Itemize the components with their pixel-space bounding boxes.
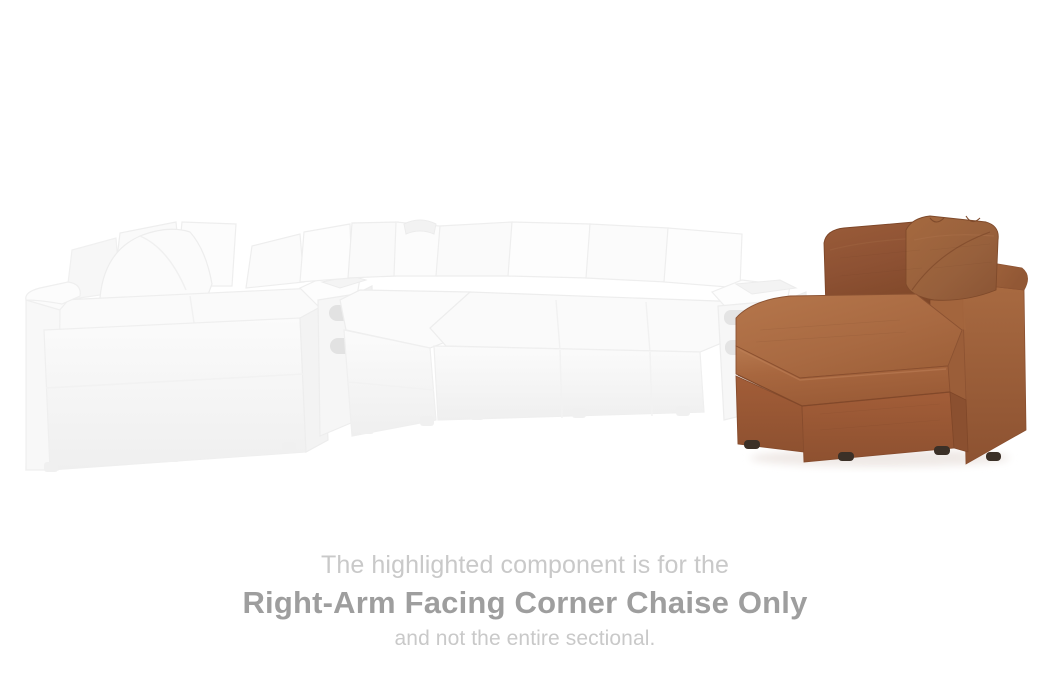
- chaise-side-pillow: [906, 216, 998, 300]
- chaise-foot: [838, 452, 854, 461]
- chaise-foot: [986, 452, 1001, 461]
- caption-line-1: The highlighted component is for the: [0, 548, 1050, 582]
- chaise-foot: [744, 440, 760, 449]
- sectional-svg: [0, 0, 1050, 520]
- caption-block: The highlighted component is for the Rig…: [0, 548, 1050, 654]
- sectional-illustration: [0, 0, 1050, 520]
- caption-line-3: and not the entire sectional.: [0, 624, 1050, 654]
- caption-line-2: Right-Arm Facing Corner Chaise Only: [0, 582, 1050, 624]
- ghost-module-armless-chairs: [430, 222, 748, 420]
- chaise-foot: [934, 446, 950, 455]
- product-image-canvas: The highlighted component is for the Rig…: [0, 0, 1050, 700]
